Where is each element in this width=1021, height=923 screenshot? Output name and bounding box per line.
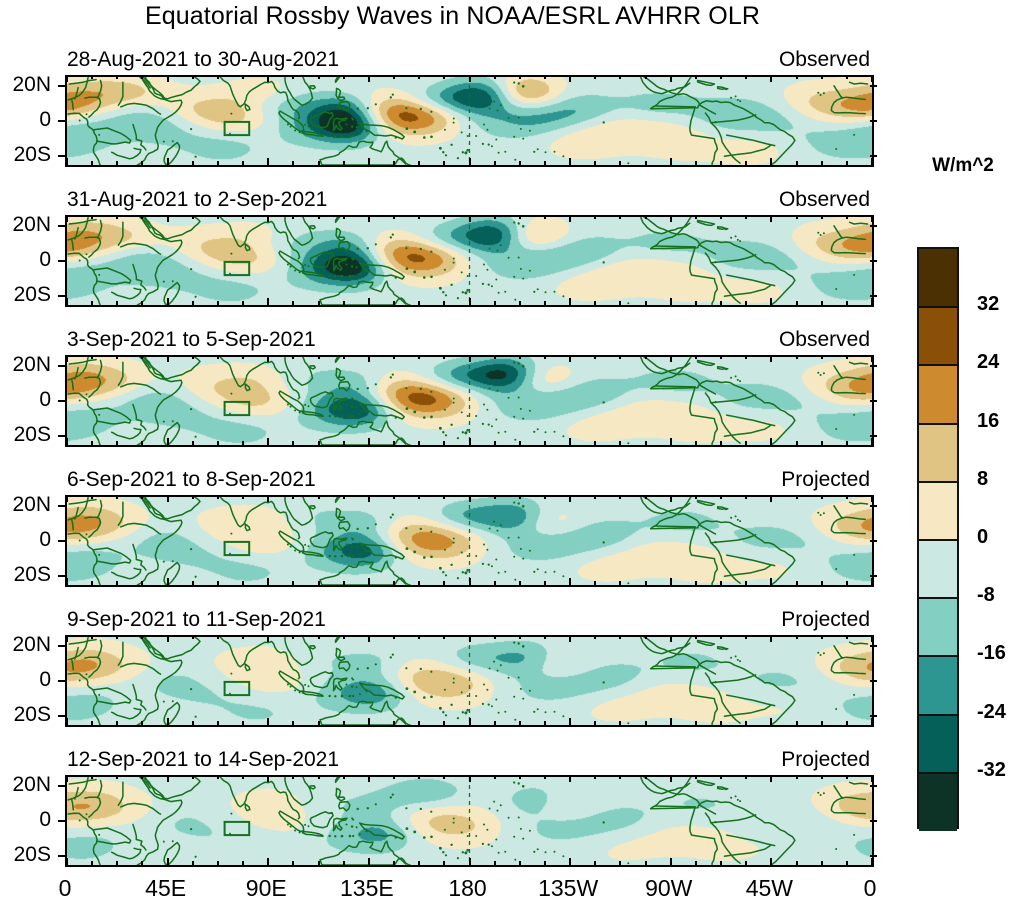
- x-tick: [267, 158, 269, 165]
- x-tick: [695, 861, 697, 865]
- x-tick-top: [695, 75, 697, 79]
- x-tick: [871, 438, 873, 445]
- y-axis-label: 0: [39, 668, 51, 692]
- x-tick-top: [393, 635, 395, 639]
- x-tick: [66, 858, 68, 865]
- x-tick: [619, 581, 621, 585]
- x-tick: [670, 718, 672, 725]
- x-tick-top: [645, 635, 647, 639]
- x-tick: [141, 861, 143, 865]
- x-tick-top: [745, 495, 747, 499]
- x-tick-top: [569, 75, 571, 82]
- x-tick-top: [343, 75, 345, 79]
- x-tick-top: [116, 215, 118, 219]
- x-tick-top: [469, 495, 471, 502]
- x-tick-top: [192, 215, 194, 219]
- x-tick-top: [292, 215, 294, 219]
- x-tick-top: [695, 215, 697, 219]
- x-tick: [66, 718, 68, 725]
- x-tick: [116, 721, 118, 725]
- x-tick: [242, 861, 244, 865]
- map-overlay: [67, 637, 872, 725]
- x-tick-top: [720, 495, 722, 499]
- map-panel-5: 9-Sep-2021 to 11-Sep-2021Projected20N020…: [65, 635, 870, 723]
- y-tick: [58, 715, 65, 717]
- x-tick: [292, 301, 294, 305]
- y-axis-label: 0: [39, 528, 51, 552]
- x-tick-top: [871, 75, 873, 82]
- x-tick: [217, 861, 219, 865]
- x-tick: [167, 438, 169, 445]
- y-tick-right: [870, 365, 877, 367]
- panel-status-label: Observed: [779, 48, 870, 72]
- x-tick: [443, 861, 445, 865]
- x-tick-top: [544, 355, 546, 359]
- y-tick: [58, 645, 65, 647]
- y-tick-right: [870, 645, 877, 647]
- x-tick: [519, 721, 521, 725]
- x-tick: [846, 301, 848, 305]
- x-tick-top: [670, 635, 672, 642]
- x-tick-top: [745, 355, 747, 359]
- x-axis-label: 0: [25, 875, 105, 902]
- x-tick: [770, 858, 772, 865]
- y-tick-right: [870, 435, 877, 437]
- colorbar-tick-label: -24: [977, 701, 1006, 724]
- x-tick-top: [167, 635, 169, 642]
- x-tick-top: [66, 215, 68, 222]
- x-tick-top: [368, 635, 370, 642]
- x-tick: [368, 438, 370, 445]
- x-tick: [267, 858, 269, 865]
- x-tick: [443, 161, 445, 165]
- y-tick-right: [870, 295, 877, 297]
- x-tick: [670, 858, 672, 865]
- y-tick-right: [870, 260, 877, 262]
- x-tick-top: [242, 75, 244, 79]
- x-tick-top: [645, 775, 647, 779]
- y-axis-label: 20S: [14, 843, 51, 867]
- x-tick-top: [167, 75, 169, 82]
- x-tick: [821, 301, 823, 305]
- x-tick-top: [846, 215, 848, 219]
- x-tick-top: [594, 355, 596, 359]
- x-tick: [318, 581, 320, 585]
- x-tick: [720, 581, 722, 585]
- x-tick: [619, 721, 621, 725]
- x-tick: [770, 438, 772, 445]
- colorbar-separator: [919, 714, 957, 716]
- x-tick-top: [720, 355, 722, 359]
- x-tick-top: [318, 75, 320, 79]
- x-tick: [167, 158, 169, 165]
- x-tick-top: [368, 75, 370, 82]
- y-axis-label: 20N: [12, 73, 51, 97]
- y-axis-label: 20S: [14, 423, 51, 447]
- x-tick-top: [594, 635, 596, 639]
- colorbar-separator: [919, 772, 957, 774]
- x-axis-label: 45W: [729, 875, 809, 902]
- x-tick: [720, 721, 722, 725]
- x-tick: [569, 298, 571, 305]
- x-tick-top: [745, 215, 747, 219]
- x-tick: [494, 301, 496, 305]
- x-tick-top: [267, 355, 269, 362]
- map-panel-1: 28-Aug-2021 to 30-Aug-2021Observed20N020…: [65, 75, 870, 163]
- x-tick-top: [494, 635, 496, 639]
- x-tick-top: [91, 75, 93, 79]
- x-tick: [745, 581, 747, 585]
- x-tick: [821, 721, 823, 725]
- x-tick: [695, 581, 697, 585]
- x-tick: [393, 581, 395, 585]
- x-tick-top: [192, 355, 194, 359]
- x-tick: [418, 581, 420, 585]
- x-tick: [66, 578, 68, 585]
- x-tick-top: [619, 775, 621, 779]
- x-tick-top: [66, 495, 68, 502]
- x-tick-top: [770, 495, 772, 502]
- colorbar-tick-label: -32: [977, 759, 1006, 782]
- region-of-interest-box: [225, 542, 250, 555]
- x-tick: [645, 721, 647, 725]
- y-tick-right: [870, 575, 877, 577]
- x-tick: [167, 858, 169, 865]
- x-tick-top: [796, 635, 798, 639]
- x-tick: [66, 158, 68, 165]
- x-tick-top: [242, 775, 244, 779]
- x-tick: [494, 721, 496, 725]
- x-tick: [343, 581, 345, 585]
- x-tick-top: [846, 75, 848, 79]
- x-axis-label: 180: [428, 875, 508, 902]
- x-tick-top: [318, 635, 320, 639]
- y-tick: [58, 855, 65, 857]
- x-tick: [242, 441, 244, 445]
- x-tick-top: [242, 635, 244, 639]
- x-tick: [645, 441, 647, 445]
- y-tick-right: [870, 505, 877, 507]
- x-tick-top: [569, 775, 571, 782]
- x-tick-top: [393, 215, 395, 219]
- panel-date-label: 3-Sep-2021 to 5-Sep-2021: [67, 328, 316, 352]
- x-tick-top: [318, 215, 320, 219]
- x-tick: [116, 301, 118, 305]
- x-tick: [469, 298, 471, 305]
- x-tick: [318, 301, 320, 305]
- x-tick: [846, 721, 848, 725]
- x-tick: [796, 441, 798, 445]
- x-tick-top: [443, 215, 445, 219]
- x-tick: [544, 721, 546, 725]
- x-tick: [594, 861, 596, 865]
- x-tick: [619, 861, 621, 865]
- x-tick-top: [871, 495, 873, 502]
- panel-date-label: 28-Aug-2021 to 30-Aug-2021: [67, 48, 339, 72]
- x-tick-top: [116, 355, 118, 359]
- region-of-interest-box: [225, 262, 250, 275]
- x-tick-top: [292, 635, 294, 639]
- x-tick-top: [368, 775, 370, 782]
- x-tick-top: [469, 75, 471, 82]
- x-tick: [141, 301, 143, 305]
- x-tick: [871, 298, 873, 305]
- x-tick-top: [745, 775, 747, 779]
- y-tick-right: [870, 400, 877, 402]
- x-axis-label: 45E: [126, 875, 206, 902]
- x-tick: [443, 721, 445, 725]
- x-tick-top: [217, 75, 219, 79]
- x-tick-top: [594, 775, 596, 779]
- x-tick-top: [619, 75, 621, 79]
- y-tick: [58, 400, 65, 402]
- x-tick: [242, 161, 244, 165]
- x-tick-top: [393, 355, 395, 359]
- colorbar-tick-label: 16: [977, 410, 999, 433]
- x-tick: [469, 578, 471, 585]
- x-tick: [292, 441, 294, 445]
- x-tick-top: [720, 75, 722, 79]
- x-tick: [544, 441, 546, 445]
- x-tick: [821, 441, 823, 445]
- x-tick-top: [796, 75, 798, 79]
- x-tick-top: [871, 635, 873, 642]
- map-overlay: [67, 777, 872, 865]
- panel-date-label: 6-Sep-2021 to 8-Sep-2021: [67, 468, 316, 492]
- x-tick: [594, 721, 596, 725]
- x-tick: [91, 161, 93, 165]
- x-tick-top: [770, 75, 772, 82]
- x-tick-top: [66, 635, 68, 642]
- x-tick: [469, 438, 471, 445]
- x-tick-top: [141, 355, 143, 359]
- y-tick-right: [870, 120, 877, 122]
- x-tick: [594, 301, 596, 305]
- colorbar-tick-label: 8: [977, 468, 988, 491]
- x-tick-top: [192, 75, 194, 79]
- x-tick: [770, 158, 772, 165]
- x-tick: [192, 301, 194, 305]
- x-tick: [695, 441, 697, 445]
- x-tick-top: [167, 215, 169, 222]
- x-tick: [393, 441, 395, 445]
- y-axis-label: 20S: [14, 143, 51, 167]
- x-tick-top: [745, 635, 747, 639]
- x-tick-top: [267, 75, 269, 82]
- x-tick: [695, 721, 697, 725]
- panel-status-label: Observed: [779, 188, 870, 212]
- x-tick-top: [418, 215, 420, 219]
- x-tick-top: [192, 495, 194, 499]
- map-overlay: [67, 77, 872, 165]
- x-tick: [217, 301, 219, 305]
- x-tick: [343, 441, 345, 445]
- x-axis-label: 135E: [327, 875, 407, 902]
- x-tick-top: [116, 495, 118, 499]
- x-tick-top: [519, 355, 521, 359]
- x-tick-top: [594, 495, 596, 499]
- x-tick-top: [141, 215, 143, 219]
- colorbar-segment: [919, 656, 957, 715]
- colorbar-segment: [919, 424, 957, 483]
- y-tick: [58, 155, 65, 157]
- x-tick: [443, 301, 445, 305]
- x-tick-top: [619, 355, 621, 359]
- x-tick: [569, 158, 571, 165]
- x-tick-top: [871, 355, 873, 362]
- x-tick-top: [192, 775, 194, 779]
- x-tick-top: [242, 355, 244, 359]
- x-tick-top: [821, 495, 823, 499]
- x-tick-top: [217, 775, 219, 779]
- x-tick-top: [619, 635, 621, 639]
- colorbar-segment: [919, 365, 957, 424]
- x-tick: [544, 161, 546, 165]
- x-tick: [871, 578, 873, 585]
- x-tick: [267, 298, 269, 305]
- colorbar-unit-label: W/m^2: [905, 155, 1021, 177]
- x-tick-top: [292, 355, 294, 359]
- x-tick-top: [116, 775, 118, 779]
- x-tick: [141, 581, 143, 585]
- x-tick: [871, 858, 873, 865]
- x-tick: [267, 578, 269, 585]
- x-tick-top: [418, 635, 420, 639]
- x-tick: [494, 441, 496, 445]
- colorbar-separator: [919, 539, 957, 541]
- x-tick-top: [469, 635, 471, 642]
- x-tick-top: [91, 635, 93, 639]
- map-overlay: [67, 497, 872, 585]
- x-tick: [393, 721, 395, 725]
- x-tick: [292, 861, 294, 865]
- map-overlay: [67, 217, 872, 305]
- x-tick: [796, 861, 798, 865]
- x-tick: [670, 578, 672, 585]
- x-tick-top: [267, 775, 269, 782]
- x-tick-top: [695, 635, 697, 639]
- y-tick: [58, 85, 65, 87]
- x-tick: [519, 861, 521, 865]
- x-tick-top: [267, 495, 269, 502]
- x-tick: [192, 441, 194, 445]
- colorbar-separator: [919, 655, 957, 657]
- panel-date-label: 9-Sep-2021 to 11-Sep-2021: [67, 608, 326, 632]
- x-tick: [343, 161, 345, 165]
- x-tick-top: [695, 495, 697, 499]
- x-tick: [519, 301, 521, 305]
- x-tick: [720, 161, 722, 165]
- colorbar-separator: [919, 364, 957, 366]
- x-tick: [192, 581, 194, 585]
- x-axis-label: 135W: [528, 875, 608, 902]
- x-tick: [745, 861, 747, 865]
- y-axis-label: 20S: [14, 703, 51, 727]
- x-tick-top: [116, 635, 118, 639]
- x-tick-top: [267, 635, 269, 642]
- x-tick-top: [619, 495, 621, 499]
- x-tick-top: [695, 775, 697, 779]
- region-of-interest-box: [225, 822, 250, 835]
- x-tick: [242, 301, 244, 305]
- panel-plot-area: [65, 775, 874, 867]
- x-tick: [368, 158, 370, 165]
- x-tick-top: [720, 775, 722, 779]
- x-tick-top: [343, 355, 345, 359]
- x-tick-top: [217, 495, 219, 499]
- y-tick: [58, 435, 65, 437]
- x-tick-top: [292, 495, 294, 499]
- x-tick: [343, 301, 345, 305]
- colorbar-separator: [919, 423, 957, 425]
- x-tick: [267, 438, 269, 445]
- x-tick-top: [619, 215, 621, 219]
- x-tick: [368, 298, 370, 305]
- y-axis-label: 20N: [12, 493, 51, 517]
- x-tick-top: [796, 775, 798, 779]
- x-tick: [368, 858, 370, 865]
- x-tick: [770, 718, 772, 725]
- x-tick: [519, 161, 521, 165]
- colorbar-separator: [919, 597, 957, 599]
- x-tick-top: [242, 495, 244, 499]
- panel-plot-area: [65, 495, 874, 587]
- y-tick-right: [870, 155, 877, 157]
- x-tick: [418, 441, 420, 445]
- panel-plot-area: [65, 75, 874, 167]
- x-tick-top: [821, 215, 823, 219]
- x-tick-top: [796, 215, 798, 219]
- x-tick: [544, 581, 546, 585]
- map-panel-3: 3-Sep-2021 to 5-Sep-2021Observed20N020S: [65, 355, 870, 443]
- x-tick: [569, 438, 571, 445]
- x-tick-top: [469, 355, 471, 362]
- x-tick: [267, 718, 269, 725]
- colorbar-segment: [919, 715, 957, 774]
- x-tick-top: [418, 495, 420, 499]
- colorbar-segment: [919, 249, 957, 308]
- x-tick-top: [494, 775, 496, 779]
- x-tick-top: [292, 775, 294, 779]
- x-tick: [116, 581, 118, 585]
- region-of-interest-box: [225, 682, 250, 695]
- x-tick-top: [141, 775, 143, 779]
- x-tick-top: [544, 215, 546, 219]
- x-tick: [645, 301, 647, 305]
- x-tick: [569, 578, 571, 585]
- x-tick-top: [192, 635, 194, 639]
- colorbar-tick-label: 24: [977, 351, 999, 374]
- x-tick: [217, 581, 219, 585]
- panel-plot-area: [65, 355, 874, 447]
- x-tick: [619, 161, 621, 165]
- y-tick-right: [870, 540, 877, 542]
- x-tick: [645, 581, 647, 585]
- x-tick-top: [91, 495, 93, 499]
- x-tick-top: [343, 775, 345, 779]
- y-tick-right: [870, 855, 877, 857]
- x-tick-top: [871, 775, 873, 782]
- x-tick-top: [519, 495, 521, 499]
- x-tick: [66, 298, 68, 305]
- y-tick-right: [870, 785, 877, 787]
- panel-plot-area: [65, 215, 874, 307]
- x-tick-top: [796, 355, 798, 359]
- colorbar-tick-label: -16: [977, 642, 1006, 665]
- x-tick-top: [670, 495, 672, 502]
- x-tick-top: [141, 635, 143, 639]
- x-tick: [242, 581, 244, 585]
